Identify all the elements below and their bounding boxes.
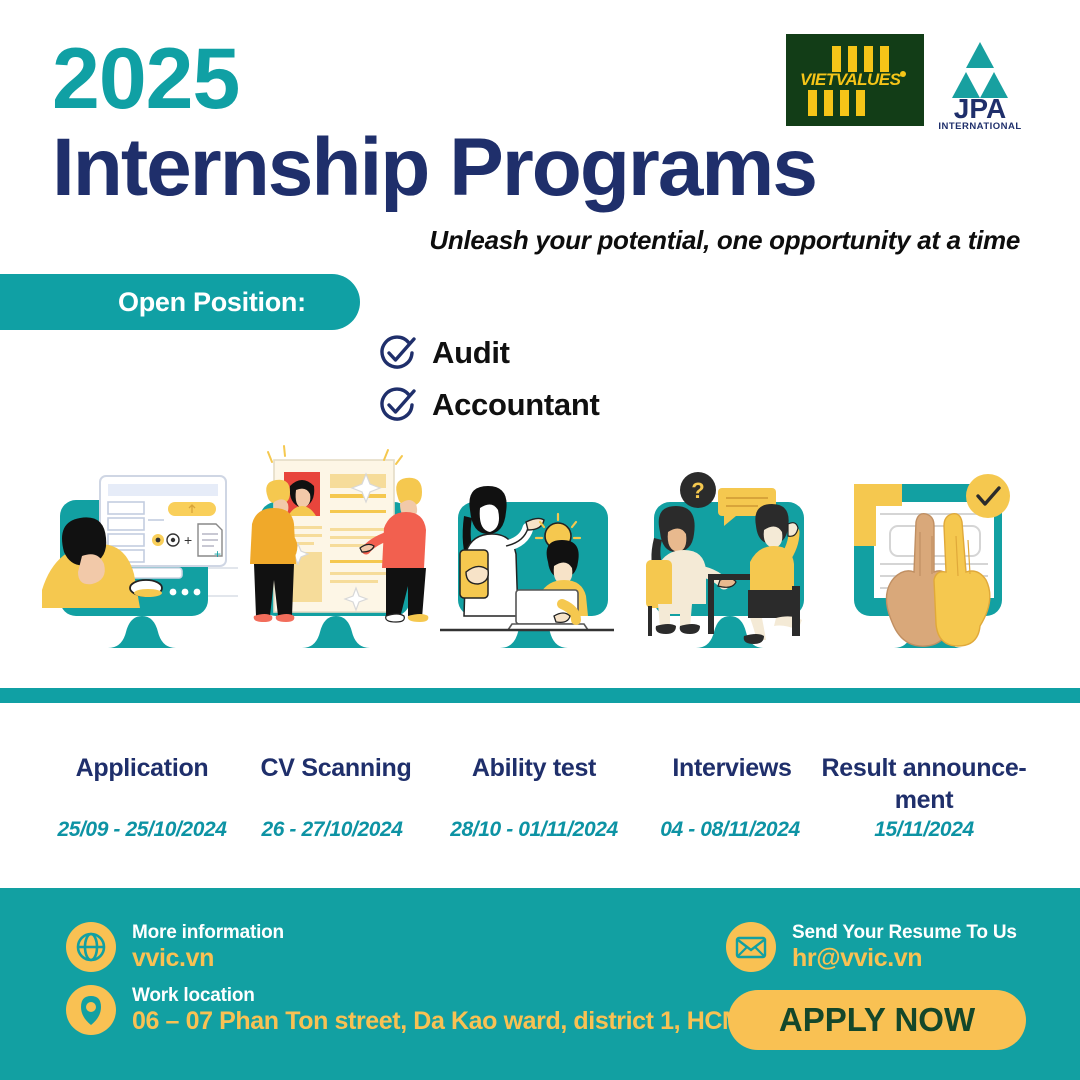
footer-contact-location: Work location 06 – 07 Phan Ton street, D… bbox=[66, 985, 760, 1035]
position-item-accountant: Accountant bbox=[376, 384, 600, 426]
footer-band bbox=[0, 888, 1080, 1080]
resume-review-icon bbox=[238, 440, 438, 690]
stage-title: CV Scanning bbox=[226, 752, 446, 784]
page-title: Internship Programs bbox=[52, 124, 816, 212]
footer-value[interactable]: vvic.vn bbox=[132, 944, 284, 972]
timeline-stage-ability-test bbox=[436, 440, 636, 690]
svg-text:JPA: JPA bbox=[954, 93, 1006, 124]
check-circle-icon bbox=[376, 384, 418, 426]
svg-text:INTERNATIONAL: INTERNATIONAL bbox=[938, 121, 1021, 132]
interview-icon: ? bbox=[632, 440, 832, 690]
open-position-list: Audit Accountant bbox=[376, 332, 600, 436]
vietvalues-logo: VIETVALUES bbox=[786, 34, 924, 126]
footer-label: Send Your Resume To Us bbox=[792, 922, 1017, 943]
footer-contact-website[interactable]: More information vvic.vn bbox=[66, 922, 284, 972]
footer-contact-text: Work location 06 – 07 Phan Ton street, D… bbox=[132, 985, 760, 1034]
jpa-logo: JPA INTERNATIONAL bbox=[932, 34, 1028, 130]
timeline-stage-interviews: ? bbox=[632, 440, 832, 690]
svg-text:+: + bbox=[214, 547, 221, 561]
stage-title: Application bbox=[32, 752, 252, 784]
highfive-icon bbox=[828, 440, 1028, 690]
tagline: Unleash your potential, one opportunity … bbox=[429, 225, 1020, 256]
desk-computer-icon: + + bbox=[42, 440, 242, 690]
globe-icon bbox=[66, 922, 116, 972]
stage-date: 15/11/2024 bbox=[804, 818, 1044, 842]
footer-label: More information bbox=[132, 922, 284, 943]
footer-value: 06 – 07 Phan Ton street, Da Kao ward, di… bbox=[132, 1007, 760, 1035]
open-position-label: Open Position: bbox=[118, 287, 306, 318]
mail-icon bbox=[726, 922, 776, 972]
footer-contact-text: More information vvic.vn bbox=[132, 922, 284, 971]
test-laptop-icon bbox=[436, 440, 636, 690]
year-heading: 2025 bbox=[52, 36, 239, 122]
poster: 2025 Internship Programs Unleash your po… bbox=[0, 0, 1080, 1080]
footer-contact-text: Send Your Resume To Us hr@vvic.vn bbox=[792, 922, 1017, 971]
timeline-rail bbox=[0, 688, 1080, 703]
svg-text:VIETVALUES: VIETVALUES bbox=[800, 70, 902, 89]
apply-now-button[interactable]: APPLY NOW bbox=[728, 990, 1026, 1050]
timeline-stage-cv-scanning bbox=[238, 440, 438, 690]
position-label: Accountant bbox=[432, 387, 600, 423]
svg-text:?: ? bbox=[691, 478, 704, 503]
stage-title: Result announce-ment bbox=[814, 752, 1034, 816]
footer-label: Work location bbox=[132, 985, 760, 1006]
position-label: Audit bbox=[432, 335, 510, 371]
position-item-audit: Audit bbox=[376, 332, 600, 374]
pin-icon bbox=[66, 985, 116, 1035]
footer-contact-email[interactable]: Send Your Resume To Us hr@vvic.vn bbox=[726, 922, 1017, 972]
stage-title: Interviews bbox=[622, 752, 842, 784]
footer-value[interactable]: hr@vvic.vn bbox=[792, 944, 1017, 972]
logo-group: VIETVALUES JPA INTERNATIONAL bbox=[786, 34, 1028, 130]
svg-text:+: + bbox=[184, 532, 192, 548]
check-circle-icon bbox=[376, 332, 418, 374]
timeline-stage-application: + + bbox=[42, 440, 242, 690]
open-position-banner: Open Position: bbox=[0, 274, 360, 330]
timeline-stage-result bbox=[828, 440, 1028, 690]
stage-title: Ability test bbox=[424, 752, 644, 784]
